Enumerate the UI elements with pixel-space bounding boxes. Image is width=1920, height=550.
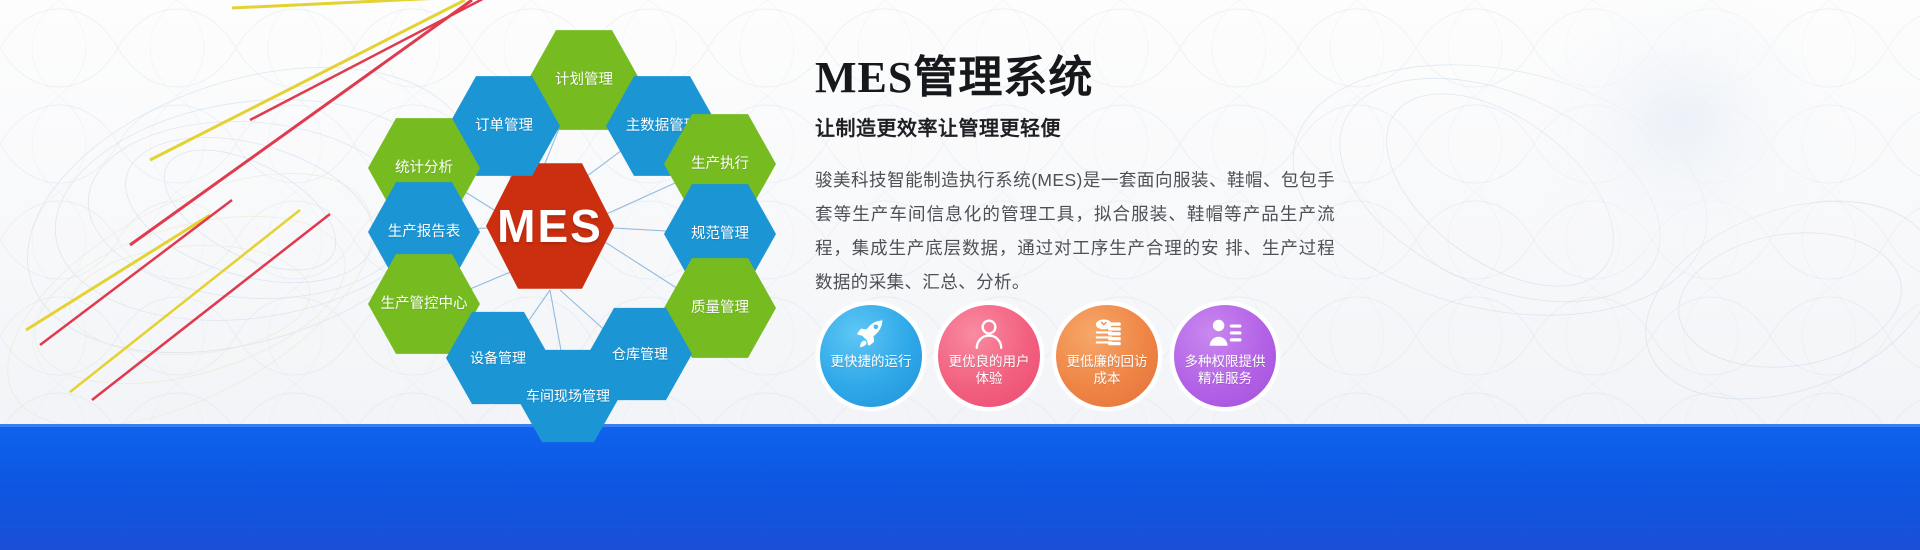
hex-label: 车间现场管理 <box>520 388 616 404</box>
mes-hexagon-diagram: MES 计划管理 订单管理 主数据管理 统计分析 生产执行 生产报告表 规范管理… <box>320 0 840 440</box>
hex-center-label: MES <box>491 200 609 253</box>
hex-label: 质量管理 <box>685 300 755 317</box>
user-icon <box>972 317 1006 351</box>
coins-icon <box>1090 317 1124 351</box>
badge-permissions[interactable]: 多种权限提供 精准服务 <box>1174 305 1276 407</box>
badge-line1: 多种权限提供 <box>1177 353 1273 370</box>
user-list-icon <box>1208 317 1242 351</box>
hex-label: 仓库管理 <box>606 346 674 362</box>
hex-label: 生产执行 <box>685 156 755 173</box>
badge-line1: 更快捷的运行 <box>823 353 919 370</box>
description-text: 骏美科技智能制造执行系统(MES)是一套面向服装、鞋帽、包包手套等生产车间信息化… <box>815 163 1335 299</box>
badge-lower-cost[interactable]: 更低廉的回访 成本 <box>1056 305 1158 407</box>
banner-stage: MES 计划管理 订单管理 主数据管理 统计分析 生产执行 生产报告表 规范管理… <box>0 0 1920 550</box>
hex-label: 生产管控中心 <box>375 296 474 313</box>
badge-line2: 精准服务 <box>1177 370 1273 387</box>
description-paragraph: 骏美科技智能制造执行系统(MES)是一套面向服装、鞋帽、包包手套等生产车间信息化… <box>815 163 1335 299</box>
hex-label: 规范管理 <box>685 226 755 243</box>
headline-block: MES管理系统 让制造更效率让管理更轻便 骏美科技智能制造执行系统(MES)是一… <box>815 54 1335 299</box>
badge-label: 更低廉的回访 成本 <box>1059 353 1155 387</box>
hex-label: 生产报告表 <box>382 224 467 241</box>
page-title: MES管理系统 <box>815 54 1335 102</box>
hex-label: 统计分析 <box>389 160 459 177</box>
badge-line2: 体验 <box>941 370 1037 387</box>
hex-label: 计划管理 <box>549 72 619 89</box>
badge-label: 多种权限提供 精准服务 <box>1177 353 1273 387</box>
badge-label: 更快捷的运行 <box>823 353 919 370</box>
badge-line1: 更低廉的回访 <box>1059 353 1155 370</box>
badge-line2: 成本 <box>1059 370 1155 387</box>
badge-better-experience[interactable]: 更优良的用户 体验 <box>938 305 1040 407</box>
hex-label: 订单管理 <box>469 118 539 135</box>
badge-faster-operation[interactable]: 更快捷的运行 <box>820 305 922 407</box>
rocket-icon <box>854 317 888 351</box>
badge-line1: 更优良的用户 <box>941 353 1037 370</box>
page-subtitle: 让制造更效率让管理更轻便 <box>815 112 1335 141</box>
badge-label: 更优良的用户 体验 <box>941 353 1037 387</box>
feature-badge-row: 更快捷的运行 更优良的用户 体验 <box>820 305 1380 425</box>
background-blue-band <box>0 424 1920 550</box>
hex-label: 设备管理 <box>464 350 532 366</box>
